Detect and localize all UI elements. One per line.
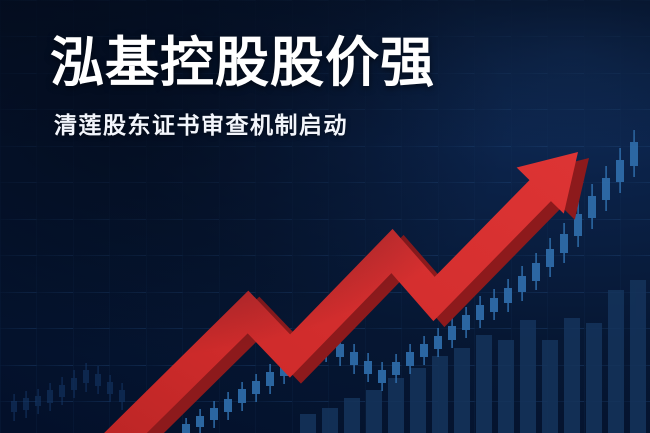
headline-block: 泓基控股股价强 清莲股东证书审查机制启动 — [50, 33, 590, 139]
page-subtitle: 清莲股东证书审查机制启动 — [54, 111, 590, 139]
stock-news-banner: 泓基控股股价强 清莲股东证书审查机制启动 — [0, 0, 650, 433]
page-title: 泓基控股股价强 — [50, 33, 590, 93]
